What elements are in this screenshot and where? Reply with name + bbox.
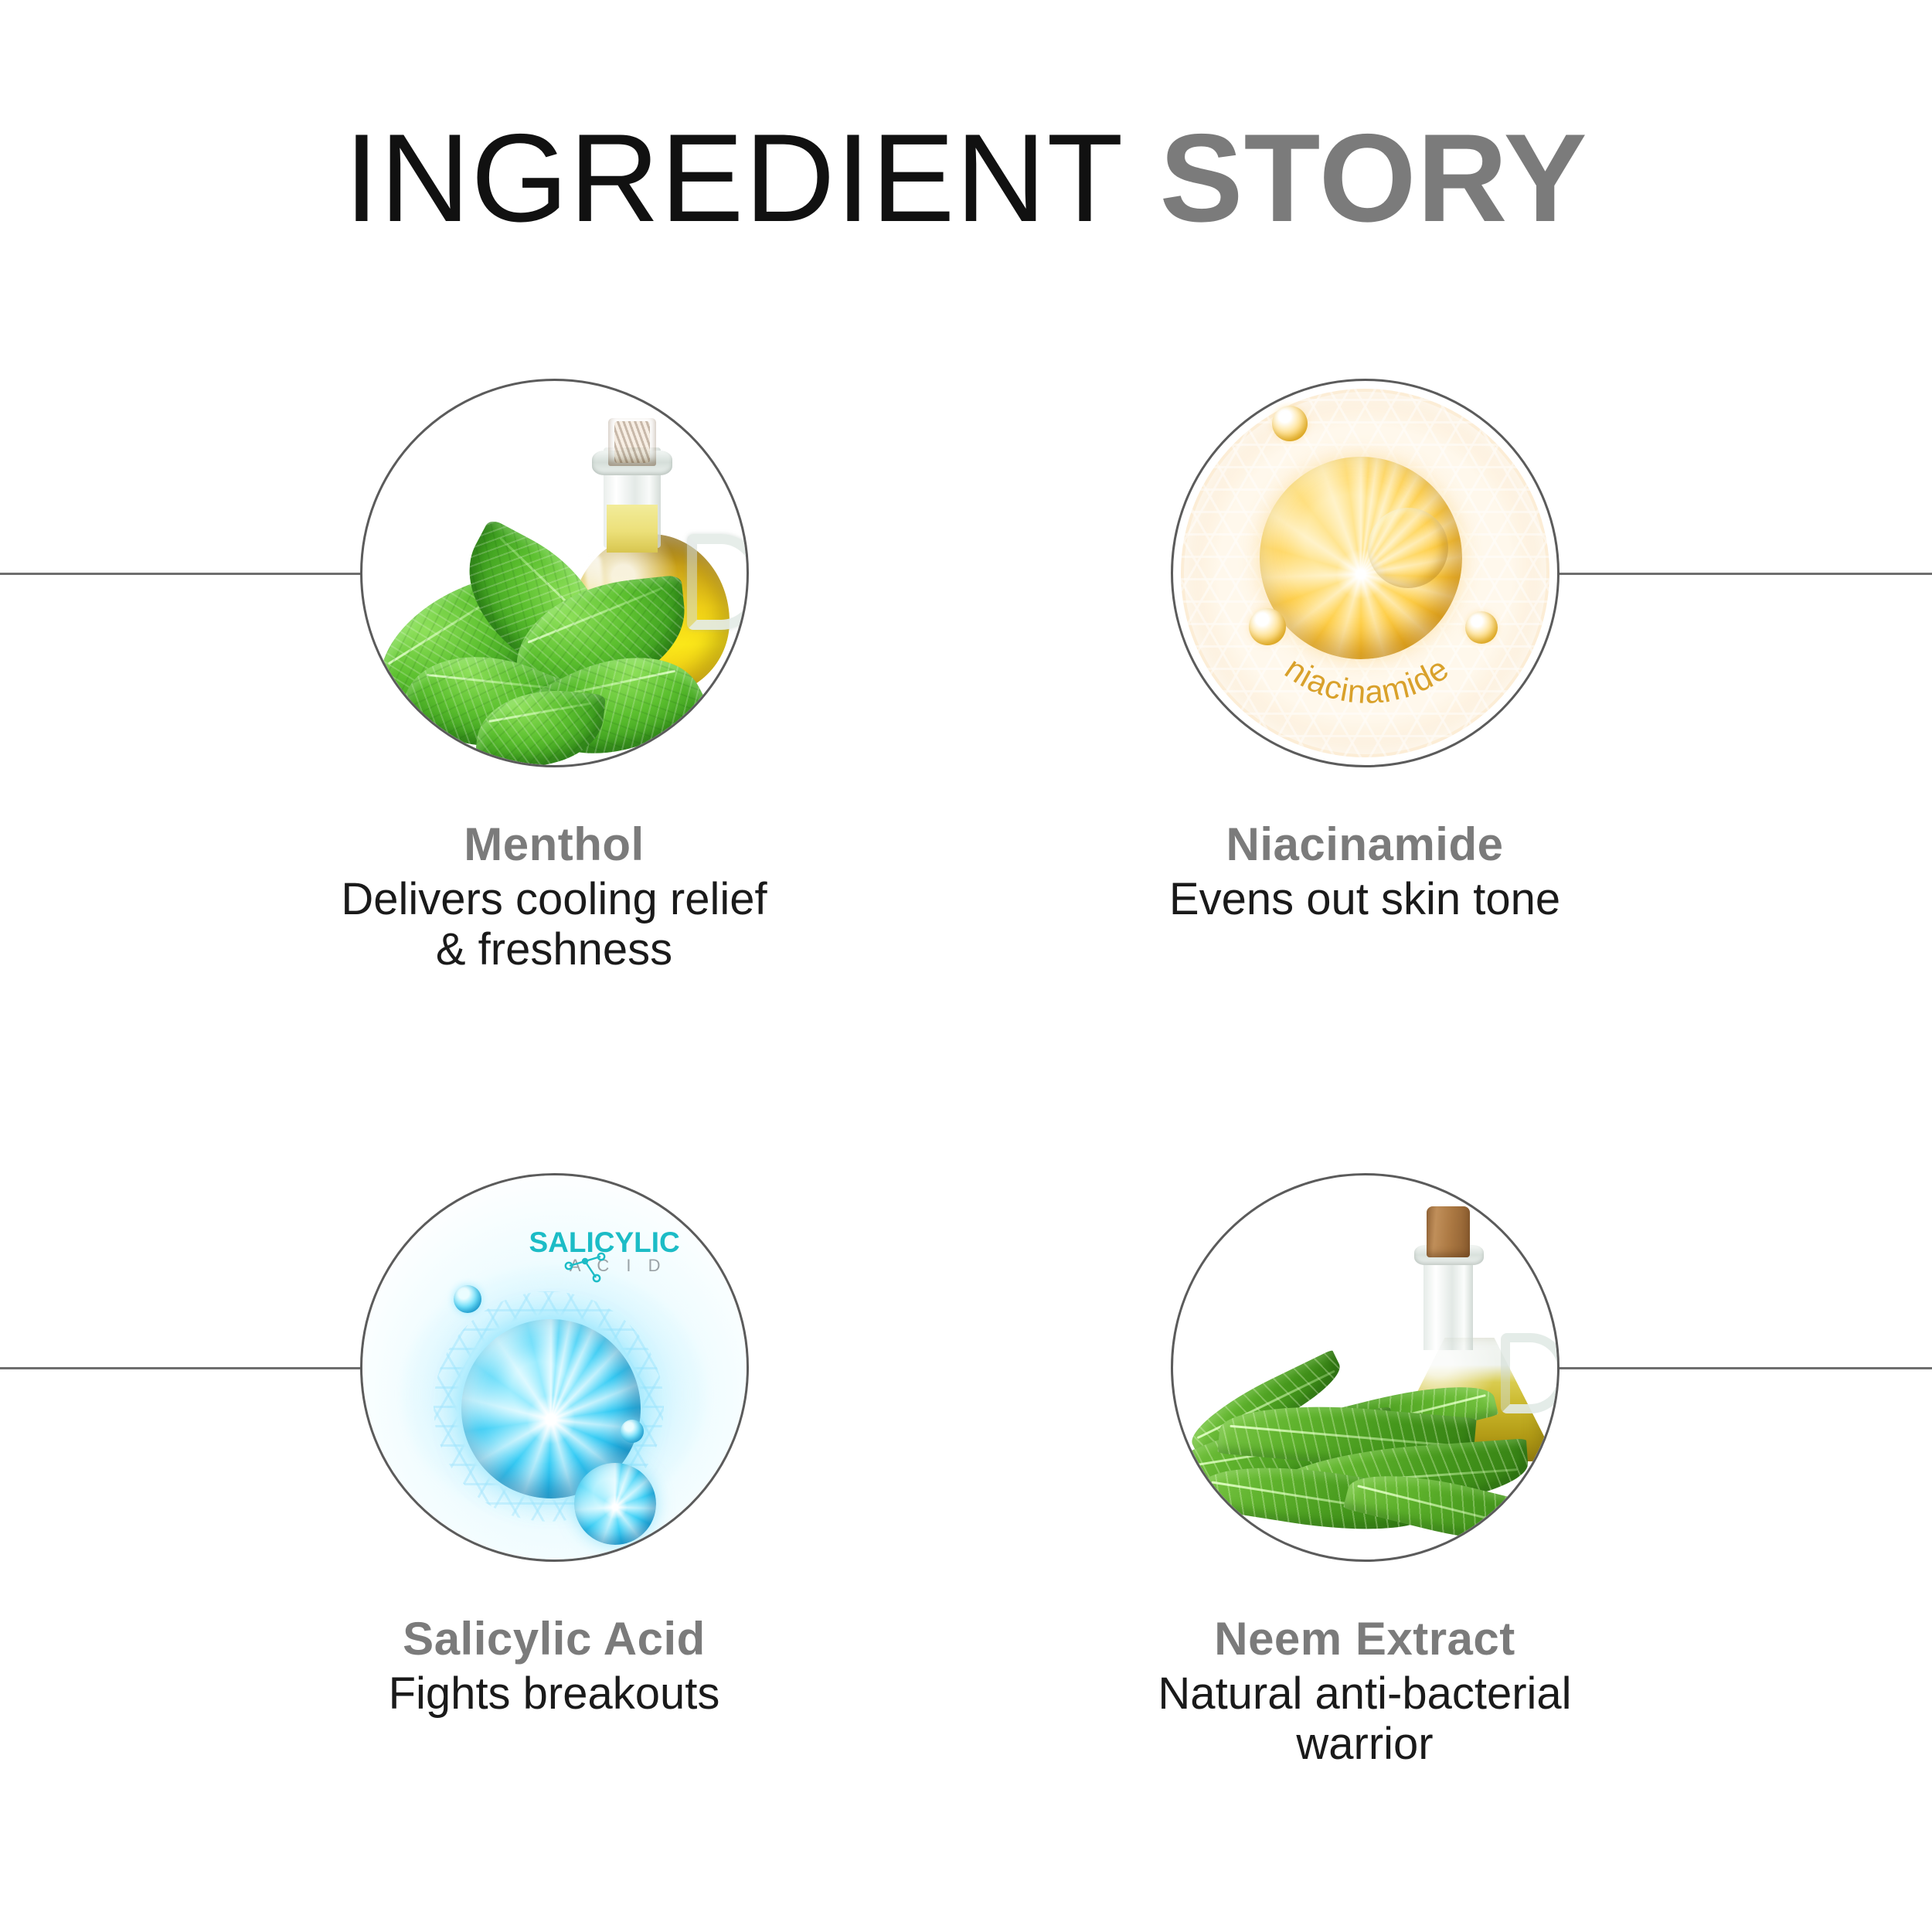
ingredient-image-menthol — [360, 379, 749, 767]
ingredient-story-page: INGREDIENT STORY — [0, 0, 1932, 1932]
ingredient-image-salicylic-acid: SALICYLIC A C I D — [360, 1173, 749, 1562]
niacinamide-artwork: niacinamide — [1173, 381, 1557, 765]
bubble-icon — [1465, 611, 1498, 644]
ingredient-description: Natural anti-bacterial warrior — [920, 1669, 1809, 1770]
bubble-icon — [1272, 406, 1308, 441]
inner-droplet-icon — [1368, 508, 1448, 588]
ingredient-card-menthol: Menthol Delivers cooling relief & freshn… — [110, 379, 998, 975]
ingredient-card-niacinamide: niacinamide Niacinamide Evens out skin t… — [920, 379, 1809, 925]
ingredient-image-niacinamide: niacinamide — [1171, 379, 1560, 767]
salicylic-acid-artwork: SALICYLIC A C I D — [362, 1175, 747, 1560]
bubble-icon — [621, 1420, 644, 1443]
ingredient-card-neem-extract: Neem Extract Natural anti-bacterial warr… — [920, 1173, 1809, 1770]
menthol-artwork — [362, 381, 747, 765]
gold-serum-sphere-icon — [1260, 457, 1462, 659]
salicylic-acid-logo: SALICYLIC A C I D — [529, 1228, 668, 1277]
ingredient-image-neem-extract — [1171, 1173, 1560, 1562]
bubble-icon — [1249, 608, 1286, 645]
ingredient-description: Delivers cooling relief & freshness — [110, 875, 998, 975]
ingredient-name: Niacinamide — [920, 820, 1809, 869]
page-title-part-one: INGREDIENT — [344, 108, 1124, 248]
ingredient-description: Fights breakouts — [110, 1669, 998, 1719]
ingredient-description-line: warrior — [920, 1719, 1809, 1770]
ingredient-card-salicylic-acid: SALICYLIC A C I D Sa — [110, 1173, 998, 1719]
ingredient-description-line: Delivers cooling relief — [110, 875, 998, 925]
page-title-space — [1124, 108, 1159, 248]
ingredient-name: Neem Extract — [920, 1614, 1809, 1663]
ingredient-description-line: Evens out skin tone — [920, 875, 1809, 925]
ingredient-name: Salicylic Acid — [110, 1614, 998, 1663]
neem-extract-artwork — [1173, 1175, 1557, 1560]
molecule-icon — [562, 1250, 617, 1287]
page-title-part-two: STORY — [1159, 108, 1587, 248]
ingredient-name: Menthol — [110, 820, 998, 869]
blue-molecule-sphere-small-icon — [574, 1463, 656, 1545]
ingredient-description-line: Natural anti-bacterial — [920, 1669, 1809, 1719]
ingredient-description-line: & freshness — [110, 925, 998, 975]
bubble-icon — [454, 1285, 481, 1313]
page-title: INGREDIENT STORY — [0, 107, 1932, 250]
ingredient-description: Evens out skin tone — [920, 875, 1809, 925]
ingredient-description-line: Fights breakouts — [110, 1669, 998, 1719]
